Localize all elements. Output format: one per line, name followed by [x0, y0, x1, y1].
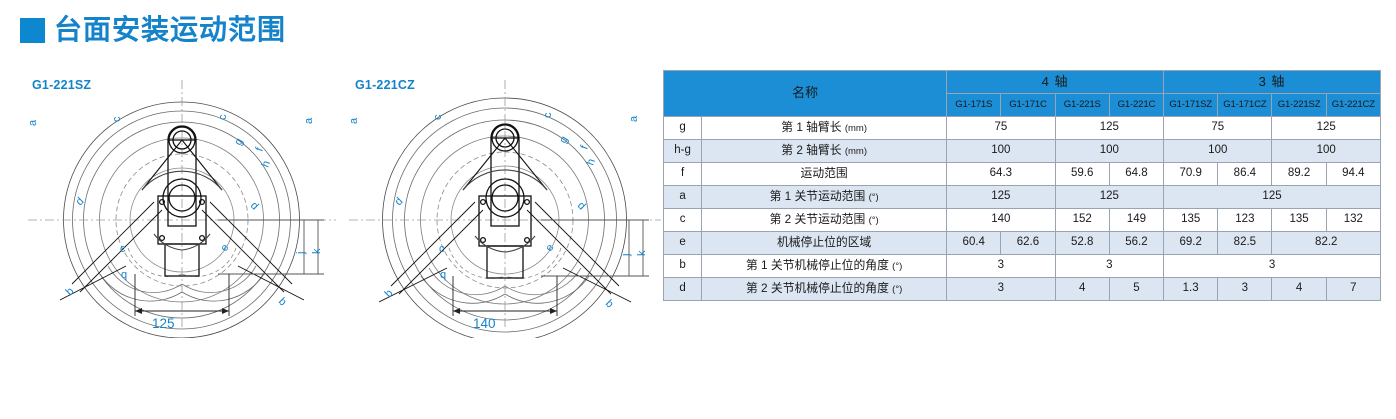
row-symbol: b: [664, 255, 702, 278]
motion-range-spec-table: 名称 4 轴 3 轴 G1-171S G1-171C G1-221S G1-22…: [663, 70, 1381, 301]
table-cell: 69.2: [1164, 232, 1218, 255]
table-header-row-groups: 名称 4 轴 3 轴: [664, 71, 1381, 94]
header-group-4axis: 4 轴: [947, 71, 1164, 94]
table-head: 名称 4 轴 3 轴 G1-171S G1-171C G1-221S G1-22…: [664, 71, 1381, 117]
table-cell: 3: [1164, 255, 1381, 278]
row-symbol: h-g: [664, 140, 702, 163]
table-cell: 60.4: [947, 232, 1001, 255]
table-cell: 3: [1218, 278, 1272, 301]
table-cell: 132: [1326, 209, 1380, 232]
svg-text:q: q: [121, 269, 127, 281]
row-description-text: 第 1 轴臂长: [781, 120, 841, 134]
table-cell: 75: [1164, 117, 1272, 140]
table-cell: 64.8: [1109, 163, 1163, 186]
table-cell: 149: [1109, 209, 1163, 232]
row-symbol: e: [664, 232, 702, 255]
svg-text:h: h: [585, 157, 598, 167]
row-symbol: g: [664, 117, 702, 140]
row-description: 第 2 轴臂长 (mm): [702, 140, 947, 163]
header-model-g1-171s: G1-171S: [947, 94, 1001, 117]
table-cell: 4: [1055, 278, 1109, 301]
header-name: 名称: [664, 71, 947, 117]
row-unit: (mm): [845, 146, 867, 157]
row-description-text: 第 2 关节运动范围: [770, 212, 866, 226]
svg-text:k: k: [311, 248, 323, 254]
row-description: 运动范围: [702, 163, 947, 186]
diagram-drawing-left: a c c a g f h d d c q e b b k j: [22, 78, 342, 338]
square-bullet-icon: [20, 18, 45, 43]
table-cell: 123: [1218, 209, 1272, 232]
page-title: 台面安装运动范围: [20, 16, 286, 44]
table-cell: 94.4: [1326, 163, 1380, 186]
row-description-text: 第 2 轴臂长: [781, 143, 841, 157]
svg-text:g: g: [557, 134, 570, 145]
header-group-3axis: 3 轴: [1164, 71, 1381, 94]
table-cell: 3: [947, 278, 1055, 301]
row-unit: (°): [892, 261, 902, 272]
table-row: g第 1 轴臂长 (mm)7512575125: [664, 117, 1381, 140]
table-cell: 62.6: [1001, 232, 1055, 255]
svg-text:g: g: [232, 136, 245, 147]
diagram-model-label: G1-221CZ: [355, 78, 415, 92]
table-cell: 86.4: [1218, 163, 1272, 186]
svg-text:e: e: [218, 242, 231, 253]
row-description: 第 2 关节机械停止位的角度 (°): [702, 278, 947, 301]
table-cell: 100: [1272, 140, 1381, 163]
row-description-text: 第 1 关节机械停止位的角度: [746, 258, 889, 272]
svg-text:k: k: [636, 250, 648, 256]
svg-text:a: a: [303, 117, 315, 124]
svg-text:c: c: [432, 114, 444, 120]
row-description: 第 2 关节运动范围 (°): [702, 209, 947, 232]
row-symbol: a: [664, 186, 702, 209]
table-cell: 125: [1055, 117, 1163, 140]
svg-text:j: j: [295, 252, 307, 255]
row-description-text: 第 1 关节运动范围: [770, 189, 866, 203]
diagram-dimension-value: 125: [152, 316, 175, 331]
table-row: a第 1 关节运动范围 (°)125125125: [664, 186, 1381, 209]
row-description-text: 第 2 关节机械停止位的角度: [746, 281, 889, 295]
svg-text:e: e: [543, 242, 556, 253]
svg-text:d: d: [575, 200, 588, 213]
table-cell: 100: [1055, 140, 1163, 163]
table-cell: 3: [1055, 255, 1163, 278]
table-cell: 3: [947, 255, 1055, 278]
table-cell: 7: [1326, 278, 1380, 301]
svg-text:c: c: [217, 114, 229, 120]
row-symbol: f: [664, 163, 702, 186]
table-cell: 140: [947, 209, 1055, 232]
table-cell: 75: [947, 117, 1055, 140]
table-row: e机械停止位的区域60.462.652.856.269.282.582.2: [664, 232, 1381, 255]
table-cell: 152: [1055, 209, 1109, 232]
svg-text:a: a: [348, 117, 360, 124]
table-cell: 125: [1055, 186, 1163, 209]
table-cell: 125: [1272, 117, 1381, 140]
table-cell: 56.2: [1109, 232, 1163, 255]
diagram-model-label: G1-221SZ: [32, 78, 91, 92]
row-unit: (mm): [845, 123, 867, 134]
svg-text:b: b: [64, 285, 77, 298]
svg-text:a: a: [27, 119, 39, 126]
table-row: d第 2 关节机械停止位的角度 (°)3451.3347: [664, 278, 1381, 301]
table-cell: 59.6: [1055, 163, 1109, 186]
table-cell: 5: [1109, 278, 1163, 301]
table-cell: 82.2: [1272, 232, 1381, 255]
svg-text:d: d: [248, 200, 261, 213]
page-title-text: 台面安装运动范围: [54, 16, 286, 44]
table-row: b第 1 关节机械停止位的角度 (°)333: [664, 255, 1381, 278]
table-cell: 4: [1272, 278, 1326, 301]
row-description: 第 1 关节机械停止位的角度 (°): [702, 255, 947, 278]
spec-table-container: 名称 4 轴 3 轴 G1-171S G1-171C G1-221S G1-22…: [663, 70, 1381, 301]
svg-text:q: q: [440, 269, 446, 281]
row-unit: (°): [892, 284, 902, 295]
diagram-drawing-right: a c c a g f h d d c q e b b k j: [345, 78, 665, 338]
table-cell: 100: [947, 140, 1055, 163]
row-description: 第 1 关节运动范围 (°): [702, 186, 947, 209]
svg-text:a: a: [628, 115, 640, 122]
motion-range-diagram-left: G1-221SZ: [22, 78, 342, 338]
table-cell: 64.3: [947, 163, 1055, 186]
table-body: g第 1 轴臂长 (mm)7512575125h-g第 2 轴臂长 (mm)10…: [664, 117, 1381, 301]
header-model-g1-221cz: G1-221CZ: [1326, 94, 1380, 117]
svg-text:j: j: [620, 254, 632, 257]
table-cell: 125: [1164, 186, 1381, 209]
svg-text:b: b: [603, 298, 616, 311]
row-symbol: c: [664, 209, 702, 232]
table-cell: 125: [947, 186, 1055, 209]
row-description-text: 运动范围: [801, 166, 848, 180]
header-model-g1-171c: G1-171C: [1001, 94, 1055, 117]
table-cell: 135: [1164, 209, 1218, 232]
row-symbol: d: [664, 278, 702, 301]
table-cell: 89.2: [1272, 163, 1326, 186]
row-unit: (°): [869, 215, 879, 226]
row-description-text: 机械停止位的区域: [777, 235, 871, 249]
svg-text:b: b: [276, 296, 289, 309]
row-unit: (°): [869, 192, 879, 203]
table-cell: 100: [1164, 140, 1272, 163]
svg-text:c: c: [542, 112, 554, 118]
header-model-g1-171sz: G1-171SZ: [1164, 94, 1218, 117]
header-model-g1-221c: G1-221C: [1109, 94, 1163, 117]
header-model-g1-221sz: G1-221SZ: [1272, 94, 1326, 117]
svg-text:d: d: [393, 195, 406, 208]
svg-text:c: c: [120, 243, 126, 255]
table-cell: 52.8: [1055, 232, 1109, 255]
svg-text:b: b: [383, 287, 396, 300]
row-description: 第 1 轴臂长 (mm): [702, 117, 947, 140]
table-cell: 1.3: [1164, 278, 1218, 301]
motion-range-diagram-right: G1-221CZ: [345, 78, 665, 338]
svg-text:h: h: [260, 159, 273, 169]
header-model-g1-171cz: G1-171CZ: [1218, 94, 1272, 117]
header-model-g1-221s: G1-221S: [1055, 94, 1109, 117]
table-row: h-g第 2 轴臂长 (mm)100100100100: [664, 140, 1381, 163]
svg-text:c: c: [111, 116, 123, 122]
table-row: f运动范围64.359.664.870.986.489.294.4: [664, 163, 1381, 186]
table-cell: 135: [1272, 209, 1326, 232]
table-cell: 70.9: [1164, 163, 1218, 186]
table-cell: 82.5: [1218, 232, 1272, 255]
row-description: 机械停止位的区域: [702, 232, 947, 255]
svg-text:c: c: [439, 243, 445, 255]
diagram-dimension-value: 140: [473, 316, 496, 331]
table-row: c第 2 关节运动范围 (°)140152149135123135132: [664, 209, 1381, 232]
